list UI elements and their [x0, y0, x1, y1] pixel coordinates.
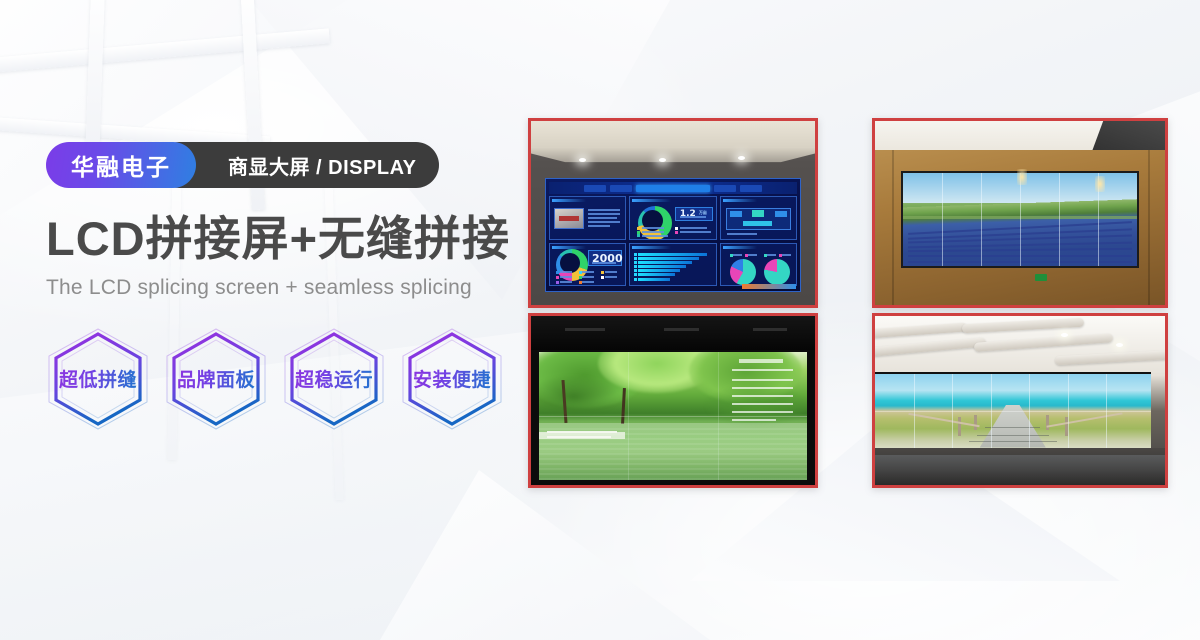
legend-label [680, 227, 708, 229]
metric-caption [680, 216, 706, 218]
text-line [588, 217, 618, 219]
dashboard-card-pies [720, 243, 797, 287]
legend-swatch [637, 234, 640, 237]
brand-pill: 华融电子 [46, 142, 196, 188]
rope [1046, 412, 1122, 427]
gallery-photo-beach-wall[interactable] [872, 313, 1168, 488]
legend-label [782, 254, 791, 256]
legend-label [560, 276, 572, 278]
metric-caption [592, 262, 616, 264]
legend-swatch [601, 276, 604, 279]
dashboard-card-barchart [629, 243, 717, 287]
dashboard-grid: 1.2 万亩 [549, 196, 797, 286]
bar-marker [634, 273, 637, 276]
dashboard-screen: 1.2 万亩 [545, 178, 801, 292]
legend-label [605, 276, 617, 278]
screen-bezel-seam-horizontal [539, 416, 808, 417]
feature-label-2: 品牌面板 [177, 365, 255, 392]
bezel-reflection [753, 328, 787, 331]
text-line [727, 233, 757, 235]
photo-scene-beach [875, 316, 1165, 485]
rope [908, 413, 979, 427]
legend-swatch [601, 271, 604, 274]
bezel-reflection [565, 328, 605, 331]
dashboard-tab [740, 185, 762, 192]
legend-label [680, 231, 711, 233]
bar [638, 265, 685, 268]
dashboard-tab [610, 185, 632, 192]
legend-swatch [556, 276, 559, 279]
screen-bezel-seam-horizontal [875, 411, 1151, 412]
gallery-photo-solar-wall[interactable] [872, 118, 1168, 308]
wall-light [1095, 176, 1105, 192]
page-title: LCD拼接屏+无缝拼接 [46, 214, 546, 264]
feature-item-3[interactable]: 超稳运行 [282, 328, 386, 430]
hero-content: 商显大屏 / DISPLAY 华融电子 LCD拼接屏+无缝拼接 The LCD … [46, 142, 546, 430]
exit-sign-icon [1035, 274, 1047, 281]
feature-label-1: 超低拼缝 [59, 365, 137, 392]
calendar-week-row [732, 411, 792, 413]
legend-swatch [556, 281, 559, 284]
bezel-reflection [664, 328, 698, 331]
bar [638, 269, 679, 272]
legend-swatch [579, 271, 582, 274]
bar-marker [634, 278, 637, 281]
bar-marker [634, 265, 637, 268]
feature-list: 超低拼缝 品牌面板 超稳运行 安装便捷 [46, 328, 546, 430]
boardwalk-plank [969, 441, 1057, 442]
feature-label-3: 超稳运行 [295, 365, 373, 392]
dashboard-topbar [549, 182, 797, 194]
wood-seam [892, 150, 894, 305]
photo-scene-willow [531, 316, 815, 485]
wood-seam [1148, 150, 1150, 305]
calendar-week-row [732, 387, 792, 389]
dashboard-tab-active [636, 185, 710, 192]
calendar-week-row [732, 379, 792, 381]
gallery-photo-willow-lake[interactable] [528, 313, 818, 488]
legend-label [582, 281, 594, 283]
legend-label [560, 281, 572, 283]
dashboard-tab [584, 185, 606, 192]
screen-top-bezel [531, 316, 815, 350]
calendar-week-row [732, 403, 792, 405]
text-line [588, 213, 621, 215]
bar [638, 253, 707, 256]
screen-bezel-seam [1059, 173, 1060, 267]
legend-swatch [579, 276, 582, 279]
legend-label [642, 231, 664, 233]
bar-marker [634, 269, 637, 272]
calendar-week-row [732, 395, 792, 397]
text-line [588, 225, 610, 227]
feature-item-2[interactable]: 品牌面板 [164, 328, 268, 430]
calendar-weekday-row [732, 369, 792, 371]
video-wall-screen [875, 372, 1151, 450]
donut-hole [560, 253, 580, 273]
legend-swatch [556, 271, 559, 274]
legend-swatch [637, 227, 640, 230]
ceiling-spotlight [659, 158, 666, 162]
bar [638, 257, 698, 260]
bar-marker [634, 257, 637, 260]
bar [638, 278, 669, 281]
rope-post [974, 415, 977, 430]
dashboard-card-intro [549, 196, 626, 240]
legend-label [642, 235, 668, 237]
text-line [588, 209, 621, 211]
legend-swatch [675, 231, 678, 234]
boardwalk-plank [977, 435, 1049, 436]
floor-reflection [875, 455, 1165, 485]
video-wall-screen [537, 350, 810, 482]
legend-label [605, 271, 617, 273]
dashboard-card-donut-2: 2000 [549, 243, 626, 287]
feature-label-4: 安装便捷 [413, 365, 491, 392]
page-subtitle: The LCD splicing screen + seamless splic… [46, 276, 546, 300]
screen-bezel-seam [981, 173, 982, 267]
calendar-title [739, 359, 783, 363]
photo-scene-dashboard: 1.2 万亩 [531, 121, 815, 305]
wall-light [1017, 169, 1027, 185]
ceiling-spotlight [579, 158, 586, 162]
screen-bezel-seam [1020, 173, 1021, 267]
gallery-photo-dashboard[interactable]: 1.2 万亩 [528, 118, 818, 308]
legend-label [582, 271, 594, 273]
bar-marker [634, 261, 637, 264]
dashboard-card-donut: 1.2 万亩 [629, 196, 717, 240]
legend-label [582, 276, 594, 278]
feature-item-4[interactable]: 安装便捷 [400, 328, 504, 430]
feature-item-1[interactable]: 超低拼缝 [46, 328, 150, 430]
dashboard-card-flow [720, 196, 797, 240]
text-line [588, 221, 621, 223]
screen-bezel-seam [942, 173, 943, 267]
ceiling-downlight [1116, 343, 1123, 347]
legend-label [560, 271, 572, 273]
shore-path [539, 432, 625, 438]
dashboard-ticker [742, 284, 796, 289]
legend-label [642, 227, 664, 229]
legend-swatch [637, 231, 640, 234]
boardwalk-plank [985, 427, 1040, 428]
bar [638, 273, 674, 276]
legend-label [748, 254, 757, 256]
pie-chart-left [730, 259, 756, 285]
photo-scene-solar [875, 121, 1165, 305]
dashboard-tab [714, 185, 736, 192]
bar-marker [634, 253, 637, 256]
rope-post [958, 417, 961, 436]
legend-label [733, 254, 742, 256]
ceiling [531, 121, 815, 169]
category-badge: 商显大屏 / DISPLAY [156, 142, 439, 188]
ceiling-downlight [1061, 333, 1068, 337]
pie-chart-right [764, 259, 790, 285]
legend-swatch [579, 281, 582, 284]
legend-swatch [675, 227, 678, 230]
bar [638, 261, 691, 264]
legend-label [767, 254, 776, 256]
calendar-week-row [732, 419, 776, 421]
brand-badge-row: 商显大屏 / DISPLAY 华融电子 [46, 142, 546, 188]
